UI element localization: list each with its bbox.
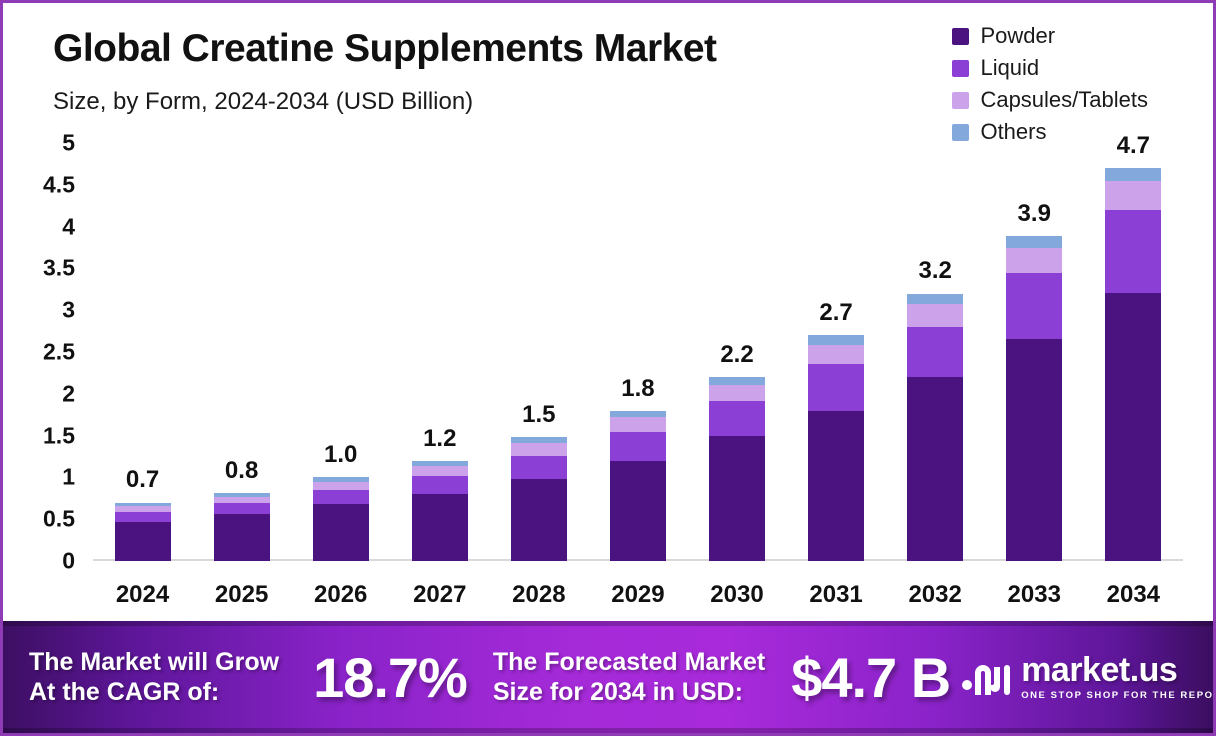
bar-segment-liquid [214, 503, 270, 514]
bar-segment-capsules-tablets [907, 304, 963, 327]
bar-segment-powder [610, 461, 666, 561]
page-title: Global Creatine Supplements Market [53, 27, 717, 71]
legend-swatch-icon [952, 124, 969, 141]
x-axis-tick-label: 2028 [512, 581, 565, 609]
market-us-logo[interactable]: market.us ONE STOP SHOP FOR THE REPORTS [960, 653, 1213, 701]
logo-name: market.us [1021, 653, 1213, 687]
y-axis-tick-label: 4.5 [43, 171, 75, 198]
bar-segment-liquid [412, 476, 468, 494]
legend-item-label: Powder [980, 23, 1055, 49]
bar-segment-capsules-tablets [808, 345, 864, 363]
bar-group: 0.720240.820251.020261.220271.520281.820… [93, 143, 1183, 561]
bar-segment-liquid [115, 512, 171, 522]
bar-column[interactable]: 0.72024 [115, 143, 171, 561]
bar-segment-others [907, 294, 963, 305]
bar-segment-capsules-tablets [709, 385, 765, 400]
legend-item-label: Others [980, 119, 1046, 145]
y-axis-tick-label: 5 [62, 130, 75, 157]
x-axis-tick-label: 2024 [116, 581, 169, 609]
logo-mark-icon [960, 657, 1012, 697]
bar-segment-liquid [907, 327, 963, 377]
chart-infographic: Global Creatine Supplements Market Size,… [0, 0, 1216, 736]
chart-legend: PowderLiquidCapsules/TabletsOthers [952, 23, 1148, 145]
y-axis-tick-label: 4 [62, 213, 75, 240]
bar-segment-powder [511, 479, 567, 561]
bar-column[interactable]: 2.72031 [808, 143, 864, 561]
x-axis-tick-label: 2026 [314, 581, 367, 609]
bar-segment-powder [907, 377, 963, 561]
y-axis-tick-label: 2.5 [43, 339, 75, 366]
x-axis-tick-label: 2032 [908, 581, 961, 609]
bar-value-label: 0.8 [225, 457, 258, 485]
bar-segment-powder [1006, 339, 1062, 561]
legend-item-liquid[interactable]: Liquid [952, 55, 1148, 81]
bar-column[interactable]: 0.82025 [214, 143, 270, 561]
forecast-value: $4.7 B [791, 645, 950, 710]
bar-value-label: 2.7 [819, 299, 852, 327]
legend-swatch-icon [952, 60, 969, 77]
bar-segment-liquid [1105, 210, 1161, 294]
bar-value-label: 2.2 [720, 341, 753, 369]
bar-segment-powder [1105, 293, 1161, 561]
bar-segment-capsules-tablets [511, 443, 567, 456]
bar-column[interactable]: 1.52028 [511, 143, 567, 561]
bar-segment-liquid [808, 364, 864, 411]
bottom-banner: The Market will GrowAt the CAGR of: 18.7… [3, 621, 1213, 733]
x-axis-tick-label: 2027 [413, 581, 466, 609]
bar-segment-capsules-tablets [1105, 181, 1161, 210]
x-axis-tick-label: 2025 [215, 581, 268, 609]
bar-segment-powder [709, 436, 765, 561]
bar-segment-others [808, 335, 864, 345]
bar-segment-capsules-tablets [412, 466, 468, 476]
bar-segment-liquid [610, 432, 666, 460]
cagr-caption: The Market will GrowAt the CAGR of: [29, 647, 279, 708]
bar-segment-others [709, 377, 765, 385]
x-axis-tick-label: 2031 [809, 581, 862, 609]
bar-value-label: 1.5 [522, 401, 555, 429]
bar-segment-capsules-tablets [313, 482, 369, 490]
legend-swatch-icon [952, 28, 969, 45]
x-axis-tick-label: 2030 [710, 581, 763, 609]
bar-value-label: 4.7 [1117, 132, 1150, 160]
bar-value-label: 0.7 [126, 466, 159, 494]
x-axis-tick-label: 2029 [611, 581, 664, 609]
logo-tagline: ONE STOP SHOP FOR THE REPORTS [1021, 691, 1213, 701]
x-axis-tick-label: 2034 [1107, 581, 1160, 609]
bar-column[interactable]: 2.22030 [709, 143, 765, 561]
bar-segment-liquid [1006, 273, 1062, 340]
legend-item-powder[interactable]: Powder [952, 23, 1148, 49]
bar-value-label: 1.0 [324, 441, 357, 469]
bar-segment-powder [808, 411, 864, 561]
y-axis-tick-label: 1 [62, 464, 75, 491]
y-axis-tick-label: 1.5 [43, 422, 75, 449]
bar-segment-liquid [313, 490, 369, 504]
bar-segment-others [610, 411, 666, 418]
y-axis-tick-label: 0.5 [43, 506, 75, 533]
legend-swatch-icon [952, 92, 969, 109]
legend-item-label: Liquid [980, 55, 1039, 81]
bar-column[interactable]: 4.72034 [1105, 143, 1161, 561]
bar-value-label: 1.8 [621, 375, 654, 403]
page-subtitle: Size, by Form, 2024-2034 (USD Billion) [53, 88, 473, 116]
bar-segment-liquid [511, 456, 567, 479]
plot-area: 00.511.522.533.544.55 0.720240.820251.02… [93, 143, 1183, 561]
cagr-value: 18.7% [313, 645, 467, 710]
bar-segment-powder [412, 494, 468, 561]
bar-column[interactable]: 3.22032 [907, 143, 963, 561]
bar-segment-liquid [709, 401, 765, 436]
bar-column[interactable]: 3.92033 [1006, 143, 1062, 561]
bar-column[interactable]: 1.02026 [313, 143, 369, 561]
bar-segment-powder [313, 504, 369, 561]
bar-value-label: 1.2 [423, 425, 456, 453]
bar-segment-capsules-tablets [1006, 248, 1062, 273]
bar-segment-capsules-tablets [214, 497, 270, 504]
bar-segment-powder [115, 522, 171, 561]
y-axis-tick-label: 0 [62, 548, 75, 575]
y-axis-tick-label: 3 [62, 297, 75, 324]
x-axis-tick-label: 2033 [1008, 581, 1061, 609]
legend-item-label: Capsules/Tablets [980, 87, 1148, 113]
bar-column[interactable]: 1.22027 [412, 143, 468, 561]
bar-segment-powder [214, 514, 270, 561]
bar-value-label: 3.9 [1018, 200, 1051, 228]
bar-segment-others [1105, 168, 1161, 181]
bar-segment-capsules-tablets [610, 417, 666, 432]
y-axis-tick-label: 2 [62, 380, 75, 407]
bar-value-label: 3.2 [918, 257, 951, 285]
forecast-caption: The Forecasted MarketSize for 2034 in US… [493, 647, 765, 708]
bar-column[interactable]: 1.82029 [610, 143, 666, 561]
legend-item-capsules-tablets[interactable]: Capsules/Tablets [952, 87, 1148, 113]
y-axis-tick-label: 3.5 [43, 255, 75, 282]
bar-segment-others [1006, 236, 1062, 248]
